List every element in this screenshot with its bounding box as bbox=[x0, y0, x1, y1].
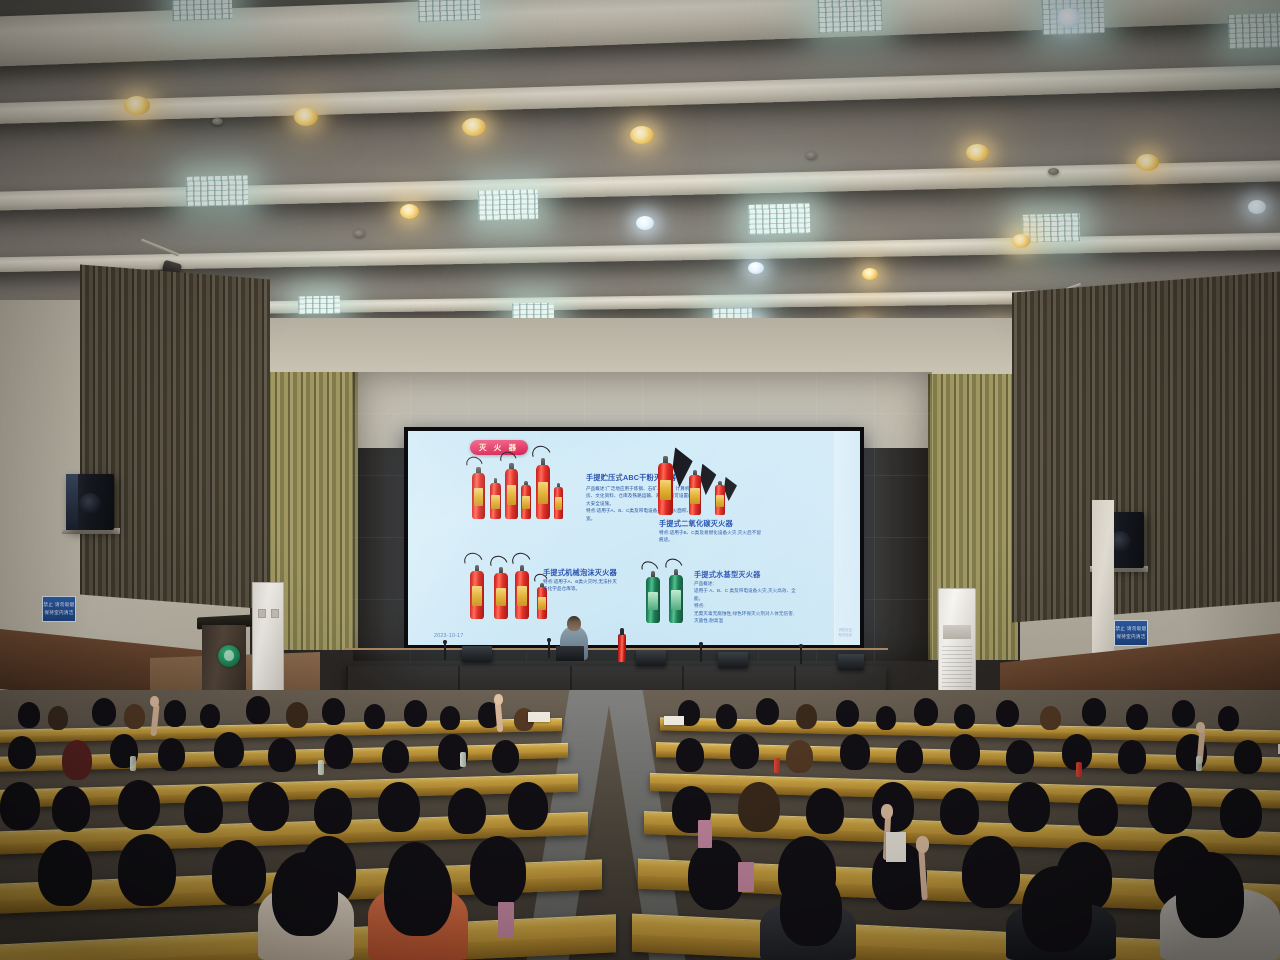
slide-title-badge: 灭 火 器 bbox=[470, 440, 528, 455]
raised-hand bbox=[150, 696, 159, 707]
extinguisher-red bbox=[536, 465, 550, 519]
water-bottle bbox=[774, 758, 780, 773]
microphone bbox=[548, 640, 550, 658]
extinguisher-red-foam bbox=[515, 571, 529, 619]
audience-member bbox=[1176, 852, 1244, 938]
raised-hand bbox=[881, 804, 893, 819]
bag bbox=[698, 820, 712, 848]
extinguisher-body bbox=[521, 485, 531, 519]
audience-member bbox=[738, 782, 780, 832]
ceiling-downlight bbox=[748, 262, 764, 274]
audience-member bbox=[246, 696, 270, 724]
paper-sheet bbox=[528, 712, 550, 722]
water-bottle bbox=[130, 756, 136, 771]
audience-member bbox=[52, 786, 90, 832]
extinguisher-red-co2 bbox=[658, 463, 673, 515]
bag bbox=[738, 862, 754, 892]
audience-member bbox=[214, 732, 244, 768]
presenter-head bbox=[567, 616, 581, 631]
slide-corner-note: 消防安全 知识培训 bbox=[838, 628, 852, 638]
water-bottle bbox=[1196, 756, 1202, 771]
microphone bbox=[444, 642, 446, 660]
extinguisher-label bbox=[538, 482, 549, 504]
audience-member bbox=[272, 852, 338, 936]
extinguisher-label bbox=[474, 488, 484, 506]
audience-member bbox=[158, 738, 185, 771]
extinguisher-green bbox=[646, 577, 660, 623]
extinguisher-body bbox=[490, 483, 501, 519]
audience-member bbox=[796, 704, 817, 729]
extinguisher-body bbox=[669, 575, 683, 623]
audience-member bbox=[1022, 866, 1092, 952]
hall-curtain-far-left bbox=[80, 265, 270, 610]
audience-member bbox=[184, 786, 223, 833]
cabinet-slot bbox=[271, 609, 279, 618]
audience-member bbox=[940, 788, 979, 835]
audience-member bbox=[914, 698, 938, 726]
extinguisher-label bbox=[660, 480, 671, 501]
audience-member bbox=[324, 734, 353, 769]
audience-member bbox=[996, 700, 1019, 727]
extinguisher-hose bbox=[509, 550, 534, 574]
extinguisher-hose bbox=[529, 443, 554, 467]
audience-member bbox=[118, 834, 176, 906]
extinguisher-body bbox=[715, 485, 725, 515]
extinguisher-body bbox=[658, 463, 673, 515]
extinguisher-body bbox=[536, 465, 550, 519]
audience-member bbox=[962, 836, 1020, 908]
extinguisher-green bbox=[669, 575, 683, 623]
extinguisher-label bbox=[507, 485, 517, 505]
slide-block-body: 产品概述:广泛地应用于炼钢、石矿、轻纺、计算机房、文化资料、仓库及铁路运输、海—… bbox=[586, 485, 698, 522]
auditorium-scene: 灭 火 器 bbox=[0, 0, 1280, 960]
extinguisher-red-co2 bbox=[715, 485, 725, 515]
audience-area bbox=[0, 690, 1280, 960]
ceiling-downlight bbox=[462, 118, 486, 136]
water-bottle bbox=[318, 760, 324, 775]
audience-member bbox=[200, 704, 220, 728]
extinguisher-body bbox=[472, 473, 485, 519]
audience-member bbox=[384, 848, 452, 936]
wall-speaker-left bbox=[66, 474, 114, 530]
paper-sheet bbox=[886, 832, 906, 862]
ceiling-downlight bbox=[636, 216, 654, 230]
audience-member bbox=[62, 740, 92, 780]
extinguisher-red-foam bbox=[470, 571, 484, 619]
extinguisher-label bbox=[538, 597, 546, 610]
audience-member bbox=[378, 782, 420, 832]
extinguisher-body bbox=[689, 475, 701, 515]
extinguisher-red bbox=[554, 487, 563, 519]
stage-monitor bbox=[838, 654, 864, 670]
ceiling-panel-light bbox=[298, 296, 340, 315]
audience-member bbox=[8, 736, 36, 769]
audience-member bbox=[124, 704, 145, 729]
ceiling-downlight bbox=[630, 126, 654, 144]
water-bottle bbox=[1076, 762, 1082, 777]
audience-member bbox=[382, 740, 409, 773]
ceiling-panel-light bbox=[417, 0, 480, 22]
extinguisher-red bbox=[505, 469, 518, 519]
audience-member bbox=[440, 706, 460, 730]
audience-member bbox=[806, 788, 844, 834]
slide-right-margin bbox=[834, 431, 860, 645]
audience-member bbox=[364, 704, 385, 729]
ceiling-panel-light bbox=[817, 0, 882, 33]
speaker-side-panel bbox=[66, 474, 78, 530]
audience-member bbox=[18, 702, 40, 728]
water-dispenser-cabinet[interactable] bbox=[252, 582, 284, 697]
ceiling-downlight bbox=[400, 204, 419, 219]
stage-monitor bbox=[636, 650, 666, 666]
extinguisher-label bbox=[472, 586, 483, 605]
extinguisher-label bbox=[716, 495, 724, 507]
audience-member bbox=[1082, 698, 1106, 726]
wall-sign-left: 禁止 请勿吸烟 保持室内清洁 bbox=[42, 596, 76, 622]
bag bbox=[498, 902, 514, 938]
audience-member bbox=[1148, 782, 1192, 834]
audience-member bbox=[950, 734, 980, 770]
air-conditioner[interactable] bbox=[938, 588, 976, 696]
audience-member bbox=[212, 840, 266, 906]
stage-monitor bbox=[718, 652, 748, 668]
extinguisher-label bbox=[648, 592, 659, 610]
audience-member bbox=[92, 698, 116, 726]
audience-member bbox=[1040, 706, 1061, 730]
ceiling-downlight bbox=[966, 144, 989, 161]
smoke-detector-icon bbox=[1048, 168, 1059, 175]
extinguisher-hose bbox=[487, 553, 510, 576]
audience-member bbox=[286, 702, 308, 728]
ceiling-panel-light bbox=[171, 0, 232, 21]
audience-member bbox=[876, 706, 896, 730]
ceiling-downlight bbox=[1058, 8, 1080, 28]
slide-date: 2023-10-17 bbox=[434, 633, 464, 639]
audience-member bbox=[470, 836, 526, 906]
audience-member bbox=[164, 700, 186, 727]
ac-control-panel[interactable] bbox=[943, 625, 971, 639]
ceiling-panel-light bbox=[186, 175, 249, 207]
slide-block-title: 手提式水基型灭火器 bbox=[694, 570, 761, 580]
raised-arm bbox=[495, 702, 504, 732]
extinguisher-label bbox=[491, 495, 499, 509]
slide-block-title: 手提式机械泡沫灭火器 bbox=[543, 568, 617, 578]
extinguisher-label bbox=[522, 496, 530, 510]
smoke-detector-icon bbox=[354, 230, 365, 237]
raised-hand bbox=[916, 836, 929, 853]
ceiling-panel-light bbox=[1227, 13, 1280, 49]
audience-member bbox=[268, 738, 296, 772]
audience-member bbox=[322, 698, 345, 725]
audience-member bbox=[1218, 706, 1239, 731]
audience-member bbox=[1118, 740, 1146, 774]
audience-member bbox=[836, 700, 859, 727]
presenter-laptop bbox=[556, 646, 584, 661]
raised-hand bbox=[1196, 722, 1205, 733]
extinguisher-red-co2 bbox=[689, 475, 701, 515]
cabinet-slot bbox=[258, 609, 266, 618]
slide-block-body: 产品概述: 适用于 A、B、C 类及带电设备火灾,灭火高效、全能。 特点: 无需… bbox=[694, 580, 798, 625]
audience-member bbox=[508, 782, 548, 830]
extinguisher-label bbox=[671, 590, 682, 609]
stage-monitor bbox=[462, 646, 492, 662]
audience-member bbox=[780, 870, 842, 946]
audience-member bbox=[756, 698, 779, 725]
smoke-detector-icon bbox=[212, 118, 223, 125]
audience-member bbox=[38, 840, 92, 906]
extinguisher-red bbox=[472, 473, 485, 519]
audience-member bbox=[676, 738, 704, 772]
ceiling-downlight bbox=[1012, 234, 1030, 248]
audience-member bbox=[1234, 740, 1262, 774]
water-bottle bbox=[460, 752, 466, 767]
ceiling-downlight bbox=[124, 96, 150, 115]
audience-member bbox=[1172, 700, 1195, 727]
audience-member bbox=[872, 782, 914, 832]
ceiling-downlight bbox=[294, 108, 318, 126]
microphone bbox=[800, 646, 802, 664]
smoke-detector-icon bbox=[806, 152, 817, 159]
extinguisher-body bbox=[554, 487, 563, 519]
slide-block-title: 手提式二氧化碳灭火器 bbox=[659, 519, 733, 529]
extinguisher-body bbox=[470, 571, 484, 619]
wall-sign-right-line1: 禁止 请勿吸烟 bbox=[1116, 626, 1147, 632]
audience-member bbox=[48, 706, 68, 730]
audience-member bbox=[1220, 788, 1262, 838]
extinguisher-label bbox=[517, 586, 528, 605]
audience-member bbox=[248, 782, 289, 831]
speaker-cone-icon bbox=[79, 493, 101, 515]
slide-block-body: 特点:适用于B、C类及易燃化设备火灾,灭火后不留痕迹。 bbox=[659, 529, 763, 544]
extinguisher-label bbox=[690, 488, 699, 504]
audience-member bbox=[314, 788, 352, 834]
slide-content: 灭 火 器 bbox=[408, 431, 860, 645]
microphone bbox=[700, 644, 702, 662]
audience-member bbox=[448, 788, 486, 834]
ceiling-downlight bbox=[862, 268, 878, 280]
audience-member bbox=[840, 734, 870, 770]
ceiling-panel-light bbox=[478, 189, 539, 221]
ceiling-downlight bbox=[1248, 200, 1266, 214]
audience-member bbox=[1008, 782, 1050, 832]
extinguisher-hose bbox=[461, 550, 486, 574]
wall-sign-left-line1: 禁止 请勿吸烟 bbox=[44, 602, 75, 608]
extinguisher-body bbox=[505, 469, 518, 519]
audience-member bbox=[404, 700, 427, 727]
audience-member bbox=[0, 782, 40, 830]
extinguisher-red bbox=[521, 485, 531, 519]
fire-extinguisher-prop bbox=[618, 634, 626, 662]
wall-sign-right-line2: 保持室内清洁 bbox=[1116, 634, 1145, 640]
audience-member bbox=[1126, 704, 1148, 730]
extinguisher-red-foam bbox=[494, 573, 508, 619]
audience-member bbox=[954, 704, 975, 729]
audience-member bbox=[716, 704, 737, 729]
ceiling-panel-light bbox=[748, 203, 811, 235]
extinguisher-red bbox=[490, 483, 501, 519]
ceiling-downlight bbox=[1136, 154, 1159, 171]
audience-member bbox=[118, 780, 160, 830]
ceiling-panel-light bbox=[1022, 213, 1081, 243]
extinguisher-label bbox=[555, 497, 562, 510]
slide-block-body: 特点:适用于A、B类火灾时,无法扑灭于化学品仓库等。 bbox=[543, 578, 621, 593]
audience-member bbox=[1006, 740, 1034, 774]
audience-member bbox=[896, 740, 923, 773]
ac-grille-icon bbox=[942, 645, 972, 691]
extinguisher-label bbox=[496, 588, 507, 606]
paper-sheet bbox=[664, 716, 684, 725]
audience-member bbox=[730, 734, 759, 769]
podium-emblem-icon bbox=[218, 645, 240, 667]
raised-hand bbox=[494, 694, 503, 705]
extinguisher-body bbox=[646, 577, 660, 623]
wall-sign-right: 禁止 请勿吸烟 保持室内清洁 bbox=[1114, 620, 1148, 646]
audience-member bbox=[688, 840, 744, 910]
extinguisher-body bbox=[515, 571, 529, 619]
projection-screen[interactable]: 灭 火 器 bbox=[404, 427, 864, 649]
extinguisher-body bbox=[494, 573, 508, 619]
wall-sign-left-line2: 保持室内清洁 bbox=[44, 610, 73, 616]
audience-member bbox=[786, 740, 813, 773]
audience-member bbox=[1078, 788, 1118, 836]
audience-member bbox=[492, 740, 519, 773]
